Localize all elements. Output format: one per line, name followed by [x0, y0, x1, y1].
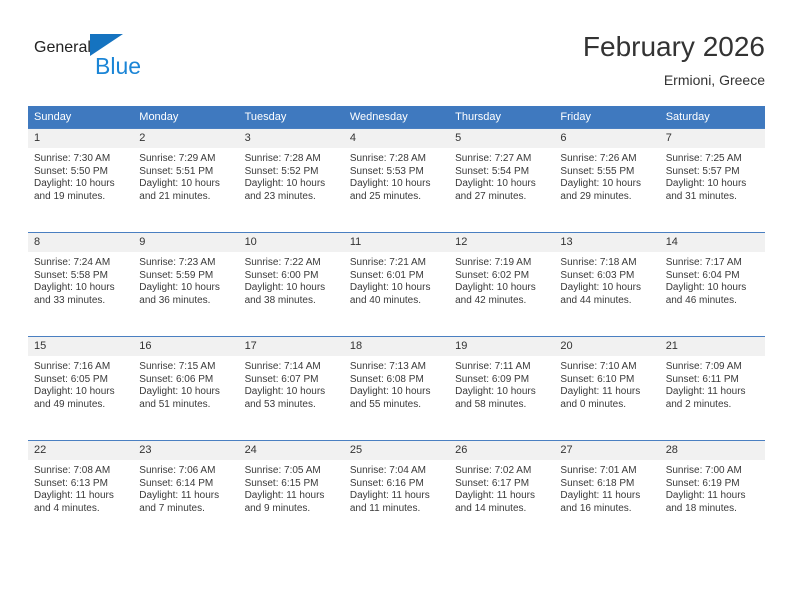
daylight-text: Daylight: 10 hours and 51 minutes.: [139, 386, 234, 411]
sunrise-text: Sunrise: 7:00 AM: [666, 465, 761, 478]
daylight-text: Daylight: 11 hours and 14 minutes.: [455, 490, 550, 515]
sunset-text: Sunset: 6:01 PM: [350, 270, 445, 283]
sunset-text: Sunset: 6:16 PM: [350, 478, 445, 491]
weekday-header-wednesday: Wednesday: [344, 106, 449, 128]
sunset-text: Sunset: 6:13 PM: [34, 478, 129, 491]
calendar-cell[interactable]: 8Sunrise: 7:24 AMSunset: 5:58 PMDaylight…: [28, 232, 133, 336]
calendar-header-row: Sunday Monday Tuesday Wednesday Thursday…: [28, 106, 765, 128]
calendar-cell[interactable]: 9Sunrise: 7:23 AMSunset: 5:59 PMDaylight…: [133, 232, 238, 336]
sunset-text: Sunset: 5:59 PM: [139, 270, 234, 283]
sunset-text: Sunset: 6:17 PM: [455, 478, 550, 491]
sunset-text: Sunset: 6:05 PM: [34, 374, 129, 387]
day-number: 18: [344, 337, 449, 356]
sunset-text: Sunset: 6:10 PM: [560, 374, 655, 387]
day-number: 25: [344, 441, 449, 460]
daylight-text: Daylight: 11 hours and 0 minutes.: [560, 386, 655, 411]
daylight-text: Daylight: 10 hours and 19 minutes.: [34, 178, 129, 203]
sunset-text: Sunset: 6:03 PM: [560, 270, 655, 283]
weekday-header-saturday: Saturday: [660, 106, 765, 128]
daylight-text: Daylight: 10 hours and 29 minutes.: [560, 178, 655, 203]
daylight-text: Daylight: 10 hours and 44 minutes.: [560, 282, 655, 307]
sunrise-text: Sunrise: 7:11 AM: [455, 361, 550, 374]
sunrise-text: Sunrise: 7:01 AM: [560, 465, 655, 478]
day-number: 11: [344, 233, 449, 252]
sunset-text: Sunset: 6:02 PM: [455, 270, 550, 283]
page-title: February 2026: [583, 30, 765, 64]
sunset-text: Sunset: 5:55 PM: [560, 166, 655, 179]
title-block: February 2026 Ermioni, Greece: [583, 30, 765, 90]
daylight-text: Daylight: 11 hours and 7 minutes.: [139, 490, 234, 515]
day-number: 27: [554, 441, 659, 460]
calendar-cell[interactable]: 26Sunrise: 7:02 AMSunset: 6:17 PMDayligh…: [449, 440, 554, 544]
calendar-cell[interactable]: 13Sunrise: 7:18 AMSunset: 6:03 PMDayligh…: [554, 232, 659, 336]
calendar-cell[interactable]: 16Sunrise: 7:15 AMSunset: 6:06 PMDayligh…: [133, 336, 238, 440]
day-number: 20: [554, 337, 659, 356]
sunrise-text: Sunrise: 7:04 AM: [350, 465, 445, 478]
calendar-cell[interactable]: 6Sunrise: 7:26 AMSunset: 5:55 PMDaylight…: [554, 128, 659, 232]
sunrise-text: Sunrise: 7:18 AM: [560, 257, 655, 270]
day-number: 9: [133, 233, 238, 252]
calendar-week-row: 1Sunrise: 7:30 AMSunset: 5:50 PMDaylight…: [28, 128, 765, 232]
daylight-text: Daylight: 10 hours and 27 minutes.: [455, 178, 550, 203]
weekday-header-thursday: Thursday: [449, 106, 554, 128]
daylight-text: Daylight: 10 hours and 55 minutes.: [350, 386, 445, 411]
sunrise-text: Sunrise: 7:16 AM: [34, 361, 129, 374]
daylight-text: Daylight: 11 hours and 9 minutes.: [245, 490, 340, 515]
sunset-text: Sunset: 5:52 PM: [245, 166, 340, 179]
sunset-text: Sunset: 6:18 PM: [560, 478, 655, 491]
calendar-cell[interactable]: 19Sunrise: 7:11 AMSunset: 6:09 PMDayligh…: [449, 336, 554, 440]
sunset-text: Sunset: 6:08 PM: [350, 374, 445, 387]
daylight-text: Daylight: 10 hours and 53 minutes.: [245, 386, 340, 411]
sunrise-text: Sunrise: 7:24 AM: [34, 257, 129, 270]
calendar-week-row: 15Sunrise: 7:16 AMSunset: 6:05 PMDayligh…: [28, 336, 765, 440]
page-subtitle: Ermioni, Greece: [583, 70, 765, 90]
day-number: 28: [660, 441, 765, 460]
sunset-text: Sunset: 5:53 PM: [350, 166, 445, 179]
sunrise-text: Sunrise: 7:02 AM: [455, 465, 550, 478]
weekday-header-monday: Monday: [133, 106, 238, 128]
calendar-cell[interactable]: 1Sunrise: 7:30 AMSunset: 5:50 PMDaylight…: [28, 128, 133, 232]
sunset-text: Sunset: 6:00 PM: [245, 270, 340, 283]
calendar-cell[interactable]: 11Sunrise: 7:21 AMSunset: 6:01 PMDayligh…: [344, 232, 449, 336]
sunrise-text: Sunrise: 7:27 AM: [455, 153, 550, 166]
daylight-text: Daylight: 11 hours and 2 minutes.: [666, 386, 761, 411]
sunset-text: Sunset: 6:09 PM: [455, 374, 550, 387]
sunrise-text: Sunrise: 7:25 AM: [666, 153, 761, 166]
sunrise-text: Sunrise: 7:09 AM: [666, 361, 761, 374]
general-blue-logo[interactable]: General Blue: [34, 34, 234, 92]
daylight-text: Daylight: 10 hours and 33 minutes.: [34, 282, 129, 307]
sunrise-text: Sunrise: 7:21 AM: [350, 257, 445, 270]
calendar-cell[interactable]: 18Sunrise: 7:13 AMSunset: 6:08 PMDayligh…: [344, 336, 449, 440]
sunset-text: Sunset: 5:58 PM: [34, 270, 129, 283]
daylight-text: Daylight: 10 hours and 40 minutes.: [350, 282, 445, 307]
sunrise-text: Sunrise: 7:28 AM: [245, 153, 340, 166]
day-number: 8: [28, 233, 133, 252]
calendar-cell[interactable]: 22Sunrise: 7:08 AMSunset: 6:13 PMDayligh…: [28, 440, 133, 544]
sunrise-text: Sunrise: 7:23 AM: [139, 257, 234, 270]
sunset-text: Sunset: 6:11 PM: [666, 374, 761, 387]
daylight-text: Daylight: 11 hours and 18 minutes.: [666, 490, 761, 515]
sunrise-text: Sunrise: 7:22 AM: [245, 257, 340, 270]
sunrise-text: Sunrise: 7:06 AM: [139, 465, 234, 478]
day-number: 16: [133, 337, 238, 356]
sunset-text: Sunset: 6:07 PM: [245, 374, 340, 387]
day-number: 6: [554, 129, 659, 148]
sunrise-text: Sunrise: 7:19 AM: [455, 257, 550, 270]
daylight-text: Daylight: 11 hours and 11 minutes.: [350, 490, 445, 515]
sunset-text: Sunset: 6:14 PM: [139, 478, 234, 491]
calendar-cell[interactable]: 28Sunrise: 7:00 AMSunset: 6:19 PMDayligh…: [660, 440, 765, 544]
sunset-text: Sunset: 5:57 PM: [666, 166, 761, 179]
sunset-text: Sunset: 5:51 PM: [139, 166, 234, 179]
sunrise-text: Sunrise: 7:30 AM: [34, 153, 129, 166]
sunrise-text: Sunrise: 7:14 AM: [245, 361, 340, 374]
weekday-header-friday: Friday: [554, 106, 659, 128]
logo-text-blue: Blue: [95, 54, 234, 78]
day-number: 26: [449, 441, 554, 460]
daylight-text: Daylight: 11 hours and 4 minutes.: [34, 490, 129, 515]
calendar-cell[interactable]: 14Sunrise: 7:17 AMSunset: 6:04 PMDayligh…: [660, 232, 765, 336]
daylight-text: Daylight: 10 hours and 42 minutes.: [455, 282, 550, 307]
day-number: 23: [133, 441, 238, 460]
daylight-text: Daylight: 10 hours and 46 minutes.: [666, 282, 761, 307]
day-number: 4: [344, 129, 449, 148]
calendar-grid: Sunday Monday Tuesday Wednesday Thursday…: [28, 106, 765, 544]
calendar-cell[interactable]: 20Sunrise: 7:10 AMSunset: 6:10 PMDayligh…: [554, 336, 659, 440]
calendar-cell[interactable]: 10Sunrise: 7:22 AMSunset: 6:00 PMDayligh…: [239, 232, 344, 336]
sunrise-text: Sunrise: 7:10 AM: [560, 361, 655, 374]
daylight-text: Daylight: 11 hours and 16 minutes.: [560, 490, 655, 515]
calendar-cell[interactable]: 23Sunrise: 7:06 AMSunset: 6:14 PMDayligh…: [133, 440, 238, 544]
sunset-text: Sunset: 6:04 PM: [666, 270, 761, 283]
calendar-body: 1Sunrise: 7:30 AMSunset: 5:50 PMDaylight…: [28, 128, 765, 544]
weekday-header-tuesday: Tuesday: [239, 106, 344, 128]
day-number: 15: [28, 337, 133, 356]
calendar-cell[interactable]: 5Sunrise: 7:27 AMSunset: 5:54 PMDaylight…: [449, 128, 554, 232]
day-number: 12: [449, 233, 554, 252]
daylight-text: Daylight: 10 hours and 49 minutes.: [34, 386, 129, 411]
sunset-text: Sunset: 6:06 PM: [139, 374, 234, 387]
day-number: 24: [239, 441, 344, 460]
sunrise-text: Sunrise: 7:05 AM: [245, 465, 340, 478]
day-number: 2: [133, 129, 238, 148]
sunrise-text: Sunrise: 7:29 AM: [139, 153, 234, 166]
page-header: General Blue February 2026 Ermioni, Gree…: [28, 30, 765, 96]
sunrise-text: Sunrise: 7:28 AM: [350, 153, 445, 166]
day-number: 7: [660, 129, 765, 148]
calendar-cell[interactable]: 4Sunrise: 7:28 AMSunset: 5:53 PMDaylight…: [344, 128, 449, 232]
day-number: 14: [660, 233, 765, 252]
daylight-text: Daylight: 10 hours and 38 minutes.: [245, 282, 340, 307]
sunrise-text: Sunrise: 7:17 AM: [666, 257, 761, 270]
day-number: 19: [449, 337, 554, 356]
day-number: 10: [239, 233, 344, 252]
sunset-text: Sunset: 5:50 PM: [34, 166, 129, 179]
calendar-cell[interactable]: 7Sunrise: 7:25 AMSunset: 5:57 PMDaylight…: [660, 128, 765, 232]
sunset-text: Sunset: 5:54 PM: [455, 166, 550, 179]
sunrise-text: Sunrise: 7:15 AM: [139, 361, 234, 374]
daylight-text: Daylight: 10 hours and 21 minutes.: [139, 178, 234, 203]
day-number: 13: [554, 233, 659, 252]
calendar-cell[interactable]: 17Sunrise: 7:14 AMSunset: 6:07 PMDayligh…: [239, 336, 344, 440]
calendar-cell[interactable]: 27Sunrise: 7:01 AMSunset: 6:18 PMDayligh…: [554, 440, 659, 544]
day-number: 3: [239, 129, 344, 148]
day-number: 17: [239, 337, 344, 356]
sunrise-text: Sunrise: 7:08 AM: [34, 465, 129, 478]
calendar-week-row: 8Sunrise: 7:24 AMSunset: 5:58 PMDaylight…: [28, 232, 765, 336]
calendar-cell[interactable]: 2Sunrise: 7:29 AMSunset: 5:51 PMDaylight…: [133, 128, 238, 232]
daylight-text: Daylight: 10 hours and 31 minutes.: [666, 178, 761, 203]
calendar-week-row: 22Sunrise: 7:08 AMSunset: 6:13 PMDayligh…: [28, 440, 765, 544]
day-number: 21: [660, 337, 765, 356]
calendar-cell[interactable]: 3Sunrise: 7:28 AMSunset: 5:52 PMDaylight…: [239, 128, 344, 232]
calendar-cell[interactable]: 25Sunrise: 7:04 AMSunset: 6:16 PMDayligh…: [344, 440, 449, 544]
daylight-text: Daylight: 10 hours and 36 minutes.: [139, 282, 234, 307]
sunrise-text: Sunrise: 7:26 AM: [560, 153, 655, 166]
calendar-cell[interactable]: 21Sunrise: 7:09 AMSunset: 6:11 PMDayligh…: [660, 336, 765, 440]
calendar-cell[interactable]: 12Sunrise: 7:19 AMSunset: 6:02 PMDayligh…: [449, 232, 554, 336]
daylight-text: Daylight: 10 hours and 25 minutes.: [350, 178, 445, 203]
daylight-text: Daylight: 10 hours and 58 minutes.: [455, 386, 550, 411]
sunset-text: Sunset: 6:15 PM: [245, 478, 340, 491]
sunset-text: Sunset: 6:19 PM: [666, 478, 761, 491]
weekday-header-sunday: Sunday: [28, 106, 133, 128]
sunrise-text: Sunrise: 7:13 AM: [350, 361, 445, 374]
calendar-cell[interactable]: 15Sunrise: 7:16 AMSunset: 6:05 PMDayligh…: [28, 336, 133, 440]
day-number: 5: [449, 129, 554, 148]
daylight-text: Daylight: 10 hours and 23 minutes.: [245, 178, 340, 203]
logo-text-general: General: [34, 39, 91, 56]
day-number: 1: [28, 129, 133, 148]
calendar-page: General Blue February 2026 Ermioni, Gree…: [0, 0, 792, 612]
calendar-cell[interactable]: 24Sunrise: 7:05 AMSunset: 6:15 PMDayligh…: [239, 440, 344, 544]
day-number: 22: [28, 441, 133, 460]
